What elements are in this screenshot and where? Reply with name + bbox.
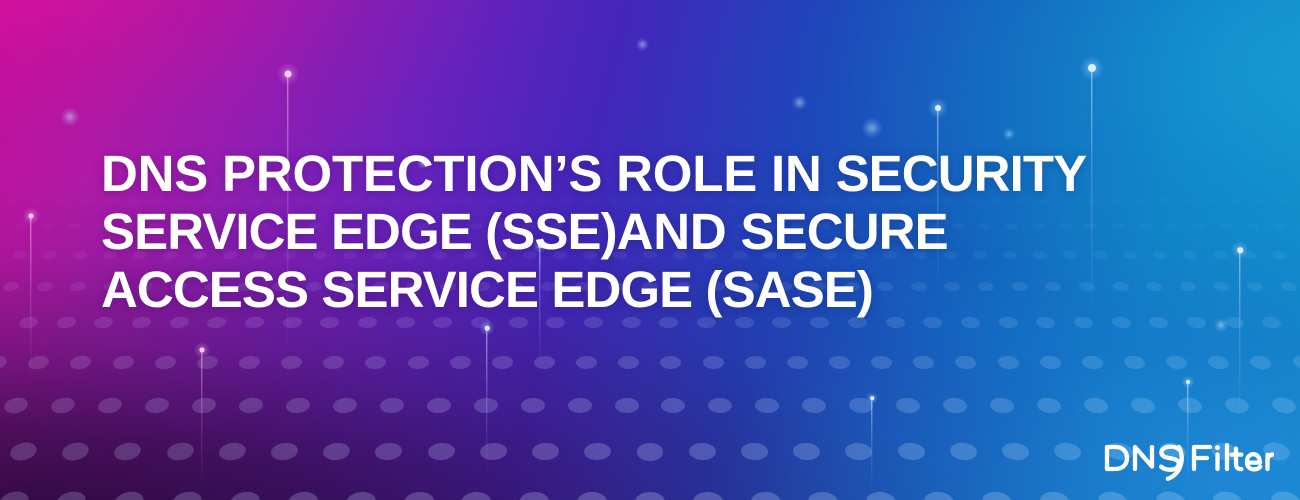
- headline-segment: DNS PROTECTION’S ROLE IN: [101, 145, 836, 202]
- headline-segment: AND: [617, 203, 741, 260]
- headline-segment-emphasis: SERVICE EDGE (SSE): [101, 203, 617, 260]
- glow-speck: [862, 118, 882, 138]
- headline-segment-emphasis: ACCESS SERVICE EDGE (SASE): [101, 261, 873, 318]
- headline-line-1: DNS PROTECTION’S ROLE IN SECURITY: [101, 145, 1261, 203]
- headline-line-3: ACCESS SERVICE EDGE (SASE): [101, 261, 1261, 319]
- marketing-banner: DNS PROTECTION’S ROLE IN SECURITY SERVIC…: [0, 0, 1300, 500]
- glow-speck: [61, 108, 79, 126]
- headline-segment-emphasis: SECURITY: [836, 145, 1087, 202]
- headline-segment-emphasis: SECURE: [741, 203, 948, 260]
- glow-speck: [1003, 128, 1015, 140]
- dnsfilter-logo[interactable]: [1102, 436, 1274, 482]
- headline-line-2: SERVICE EDGE (SSE)AND SECURE: [101, 203, 1261, 261]
- dnsfilter-logo-mark: [1102, 436, 1274, 482]
- logo-i-dot: [1215, 445, 1220, 450]
- banner-headline: DNS PROTECTION’S ROLE IN SECURITY SERVIC…: [101, 145, 1261, 319]
- glow-speck: [1214, 318, 1228, 332]
- glow-speck: [636, 38, 649, 51]
- glow-speck: [792, 95, 807, 110]
